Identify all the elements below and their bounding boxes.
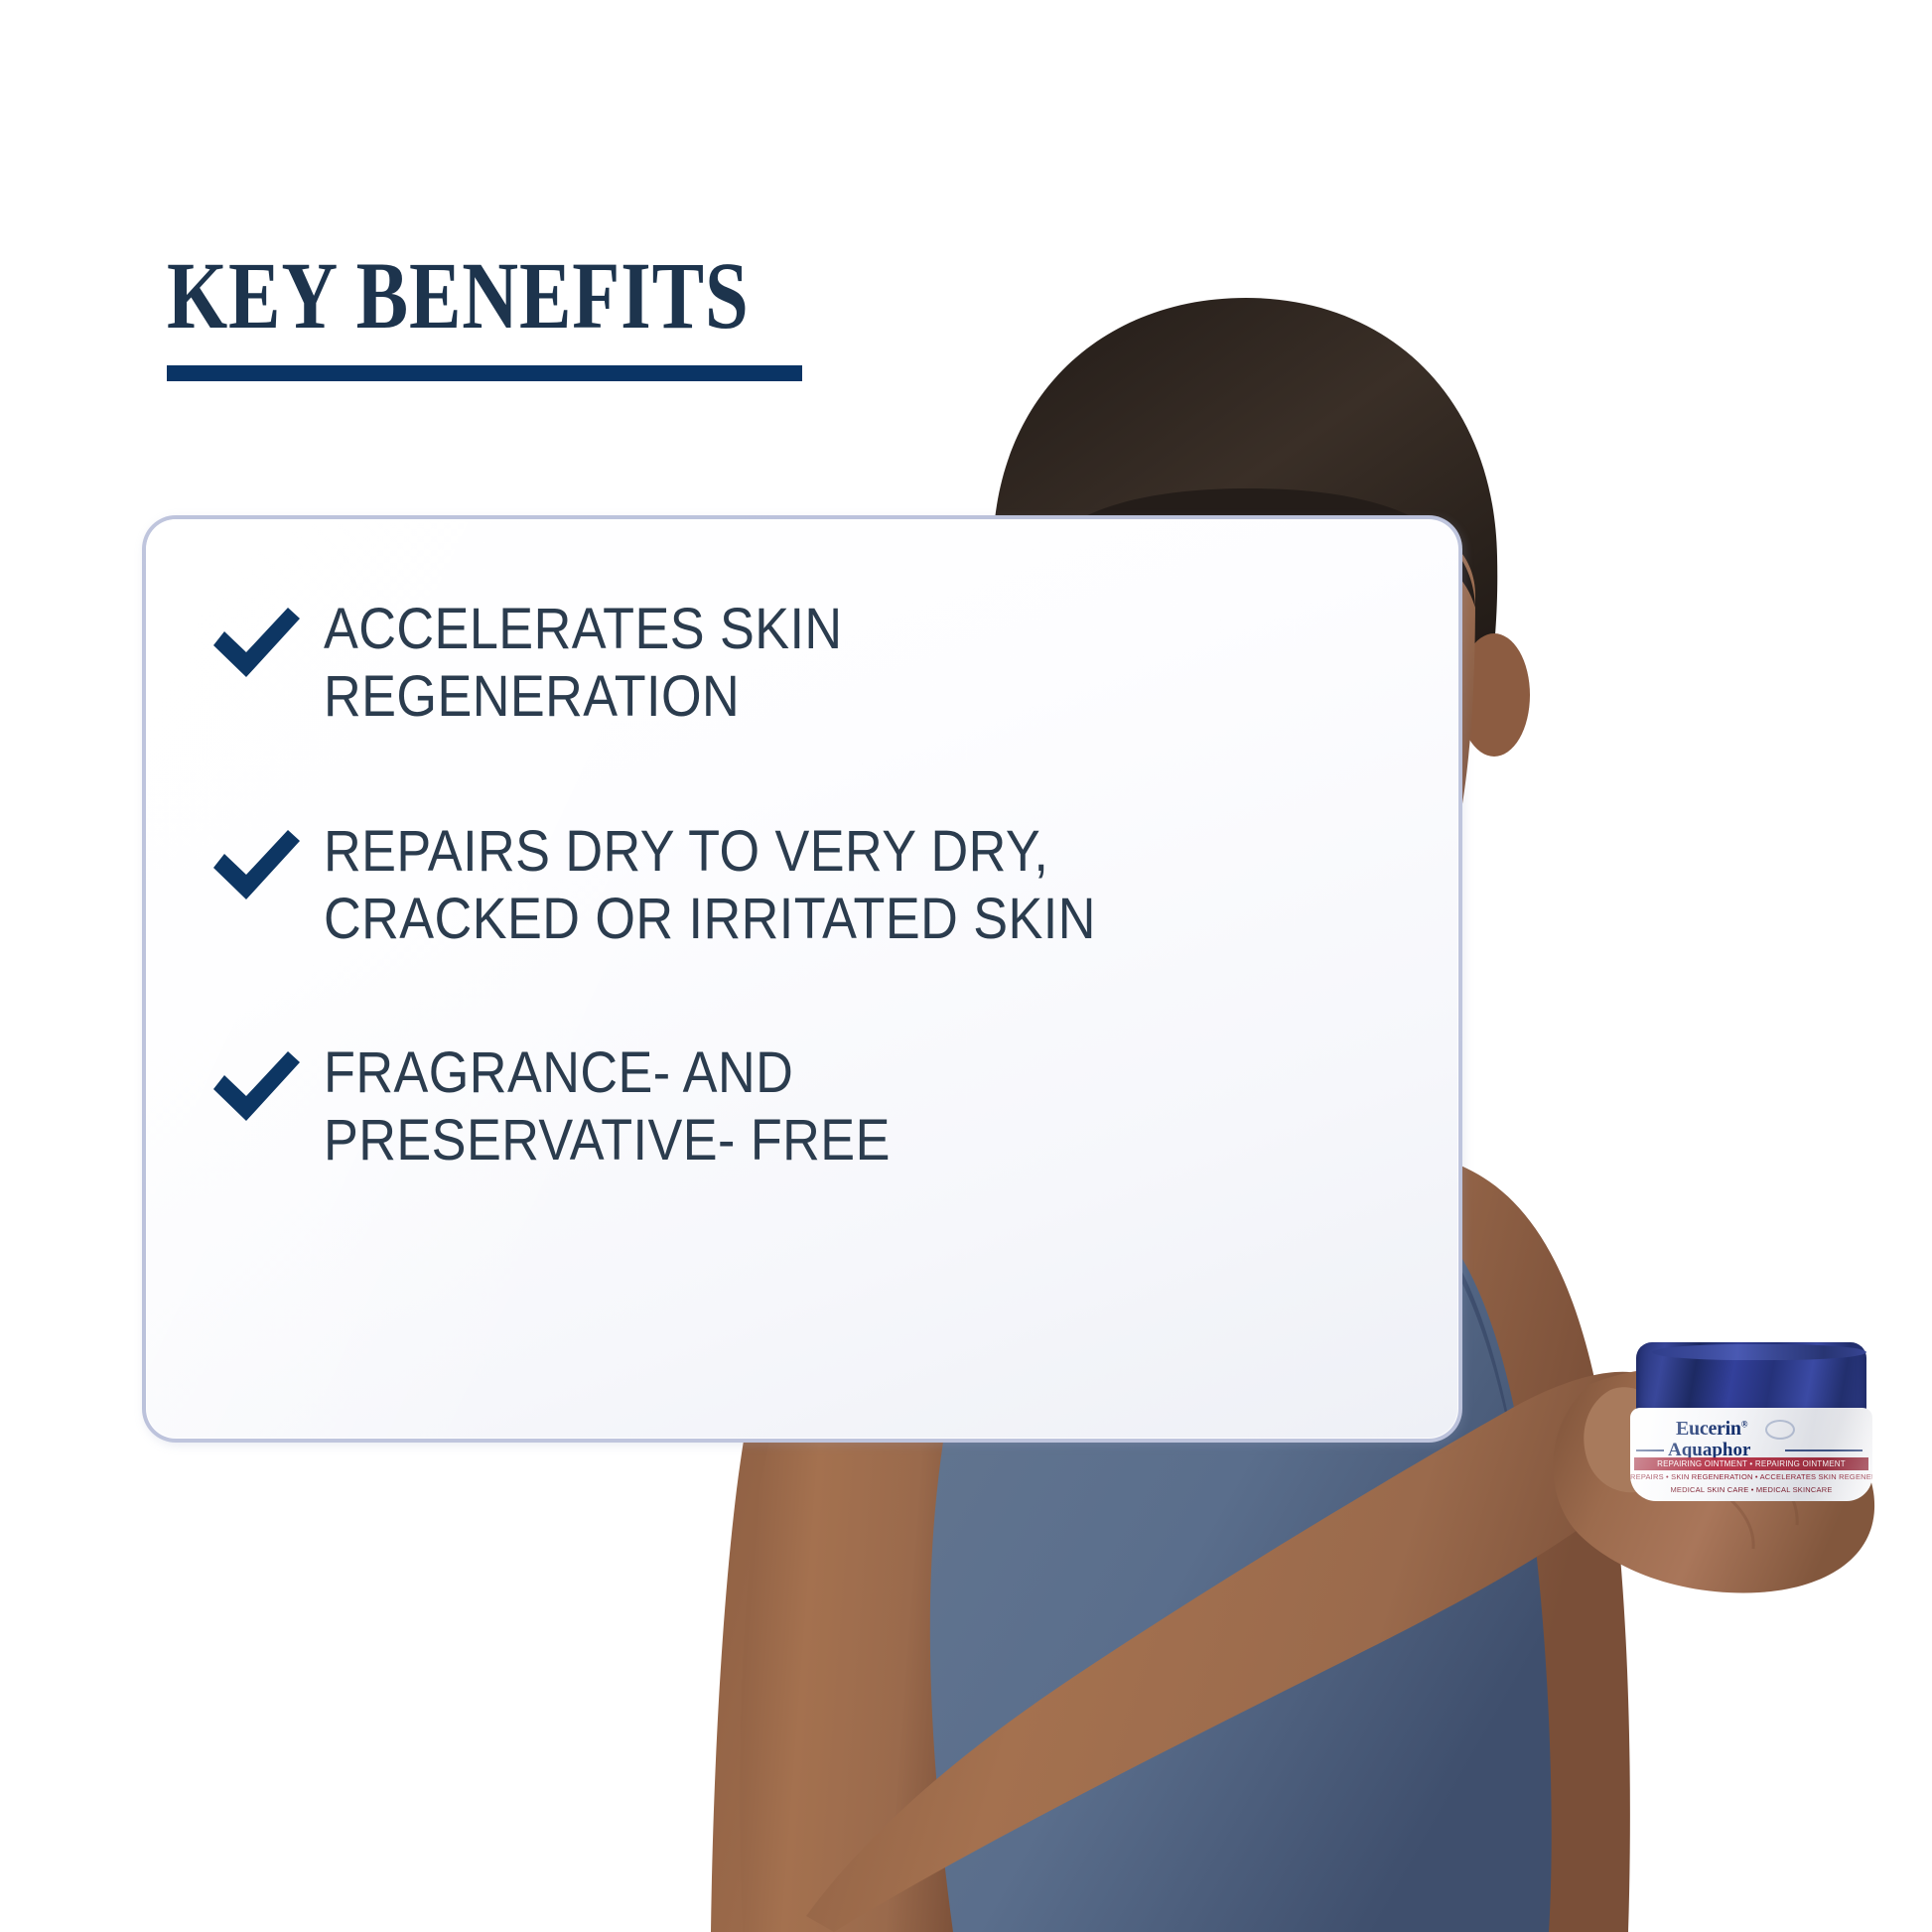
forearm-shape — [806, 1372, 1676, 1932]
title-underline-rule — [167, 365, 802, 381]
check-icon — [208, 602, 304, 685]
benefits-list: ACCELERATES SKIN REGENERATION REPAIRS DR… — [208, 596, 1211, 1174]
jar-body: Eucerin® Aquaphor REPAIRING OINTMENT • R… — [1630, 1408, 1872, 1501]
check-icon — [208, 1045, 304, 1129]
benefit-label: REPAIRS DRY TO VERY DRY, CRACKED OR IRRI… — [324, 818, 1096, 953]
page-title-block: KEY BENEFITS — [167, 248, 862, 381]
check-icon — [208, 824, 304, 907]
ear-right — [1458, 633, 1530, 757]
product-jar: Eucerin® Aquaphor REPAIRING OINTMENT • R… — [1628, 1342, 1874, 1501]
benefit-label: FRAGRANCE- AND PRESERVATIVE- FREE — [324, 1039, 891, 1174]
product-claim-line: REPAIRS • SKIN REGENERATION • ACCELERATE… — [1630, 1472, 1872, 1481]
page-title: KEY BENEFITS — [167, 248, 737, 344]
product-brand: Eucerin® — [1676, 1418, 1747, 1441]
list-item: FRAGRANCE- AND PRESERVATIVE- FREE — [208, 1039, 1211, 1174]
list-item: ACCELERATES SKIN REGENERATION — [208, 596, 1211, 731]
list-item: REPAIRS DRY TO VERY DRY, CRACKED OR IRRI… — [208, 818, 1211, 953]
jar-rule-right — [1785, 1449, 1863, 1451]
product-band-text: REPAIRING OINTMENT • REPAIRING OINTMENT — [1634, 1457, 1868, 1470]
product-category-line: MEDICAL SKIN CARE • MEDICAL SKINCARE — [1630, 1485, 1872, 1494]
product-seal-icon — [1765, 1420, 1795, 1440]
jar-lid-top-highlight — [1652, 1344, 1866, 1360]
jar-rule-left — [1636, 1449, 1664, 1451]
benefit-label: ACCELERATES SKIN REGENERATION — [324, 596, 843, 731]
composition-stage: KEY BENEFITS ACCELERATES SKIN REGENERATI… — [0, 0, 1932, 1932]
